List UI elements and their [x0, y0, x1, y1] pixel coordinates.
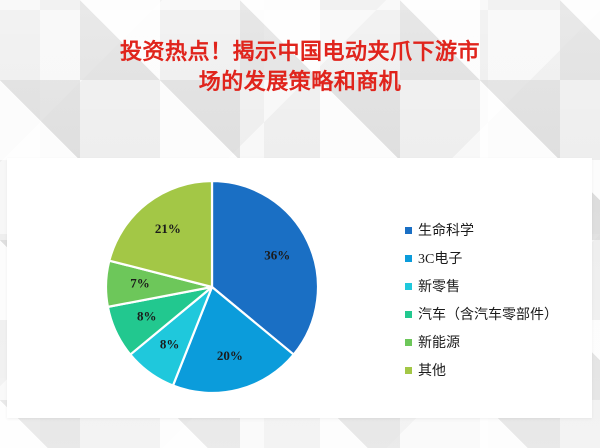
legend-swatch-icon: [405, 255, 412, 262]
page-title-line-2: 场的发展策略和商机: [0, 67, 600, 97]
legend-item[interactable]: 其他: [405, 356, 558, 384]
legend-item[interactable]: 新零售: [405, 272, 558, 300]
chart-card: 36%20%8%8%7%21% 生命科学3C电子新零售汽车（含汽车零部件）新能源…: [7, 158, 592, 418]
legend-item-label: 其他: [418, 360, 446, 380]
chart-legend: 生命科学3C电子新零售汽车（含汽车零部件）新能源其他: [405, 216, 558, 384]
pie-slice-label: 8%: [137, 309, 157, 324]
legend-swatch-icon: [405, 227, 412, 234]
page-title: 投资热点！揭示中国电动夹爪下游市 场的发展策略和商机: [0, 37, 600, 97]
legend-swatch-icon: [405, 339, 412, 346]
pie-slice-label: 36%: [264, 247, 290, 262]
legend-swatch-icon: [405, 283, 412, 290]
legend-item[interactable]: 生命科学: [405, 216, 558, 244]
pie-slice-label: 21%: [155, 221, 181, 236]
legend-swatch-icon: [405, 311, 412, 318]
pie-chart: 36%20%8%8%7%21%: [105, 180, 319, 394]
legend-item-label: 生命科学: [418, 220, 474, 240]
legend-item-label: 新零售: [418, 276, 460, 296]
pie-slice-label: 8%: [160, 336, 180, 351]
pie-chart-svg: 36%20%8%8%7%21%: [105, 180, 319, 394]
legend-item[interactable]: 3C电子: [405, 244, 558, 272]
pie-slice-label: 20%: [217, 348, 243, 363]
legend-item[interactable]: 汽车（含汽车零部件）: [405, 300, 558, 328]
pie-slice-label: 7%: [130, 276, 150, 291]
legend-item-label: 3C电子: [418, 248, 462, 268]
legend-item-label: 新能源: [418, 332, 460, 352]
legend-item-label: 汽车（含汽车零部件）: [418, 304, 558, 324]
page-title-line-1: 投资热点！揭示中国电动夹爪下游市: [0, 37, 600, 67]
legend-swatch-icon: [405, 367, 412, 374]
legend-item[interactable]: 新能源: [405, 328, 558, 356]
